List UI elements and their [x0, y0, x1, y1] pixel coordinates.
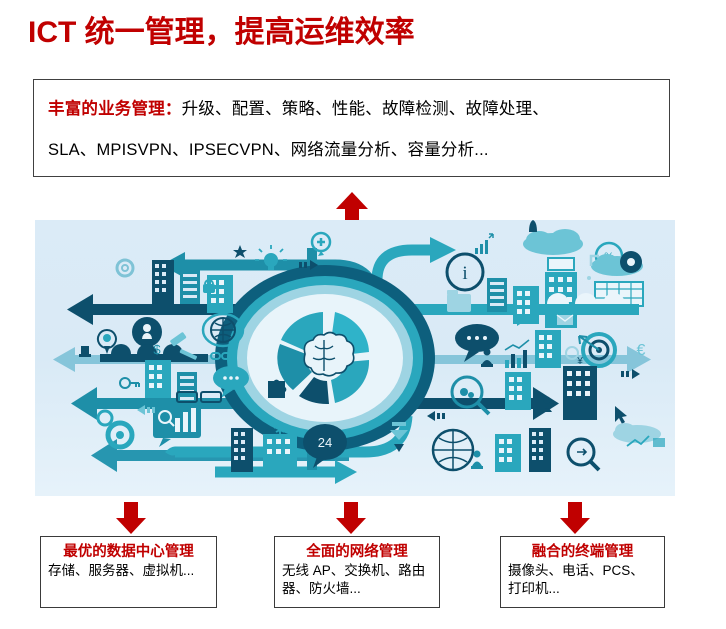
callout-line-1-items: 升级、配置、策略、性能、故障检测、故障处理、 [182, 100, 549, 118]
network-box-body: 无线 AP、交换机、路由器、防火墙... [275, 561, 439, 598]
svg-text:24: 24 [318, 435, 332, 450]
data-center-management-box: 最优的数据中心管理 存储、服务器、虚拟机... [40, 536, 217, 608]
globe-network-icon [433, 430, 473, 470]
business-management-callout-box: 丰富的业务管理：升级、配置、策略、性能、故障检测、故障处理、 SLA、MPISV… [33, 79, 670, 177]
terminal-box-title: 融合的终端管理 [501, 543, 664, 561]
svg-text:¥: ¥ [576, 356, 583, 367]
data-center-box-body: 存储、服务器、虚拟机... [41, 561, 216, 580]
data-center-box-title: 最优的数据中心管理 [41, 543, 216, 561]
callout-line-2-items: SLA、MPISVPN、IPSECVPN、网络流量分析、容量分析... [48, 136, 489, 160]
euro-icon: € [637, 342, 646, 359]
callout-line-1: 丰富的业务管理：升级、配置、策略、性能、故障检测、故障处理、 [48, 95, 549, 119]
callout-heading: 丰富的业务管理： [48, 100, 182, 118]
dollar-icon: $ [153, 342, 161, 357]
svg-text:€: € [637, 342, 646, 359]
network-box-title: 全面的网络管理 [275, 543, 439, 561]
svg-text:i: i [462, 263, 467, 284]
ict-management-infographic: $ [35, 220, 675, 496]
puzzle-icon [268, 380, 286, 398]
mail-icon [557, 315, 573, 325]
terminal-box-body: 摄像头、电话、PCS、打印机... [501, 561, 664, 598]
svg-text:$: $ [153, 342, 161, 357]
network-management-box: 全面的网络管理 无线 AP、交换机、路由器、防火墙... [274, 536, 440, 608]
terminal-management-box: 融合的终端管理 摄像头、电话、PCS、打印机... [500, 536, 665, 608]
infographic-illustration: $ [35, 220, 675, 496]
page-title: ICT 统一管理，提高运维效率 [28, 16, 415, 49]
